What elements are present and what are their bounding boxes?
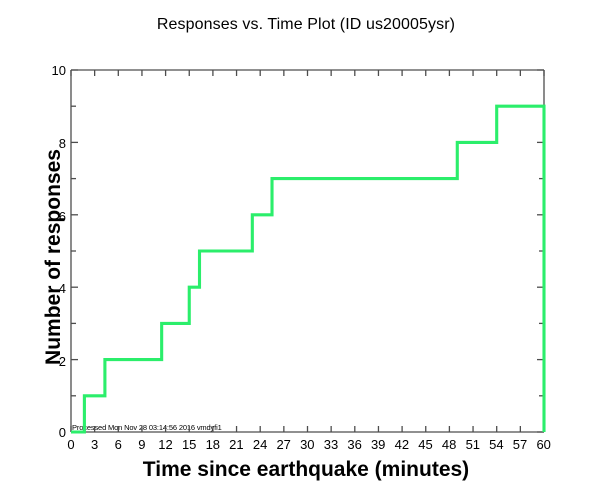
axis-ticks [71, 70, 544, 432]
y-tick-label: 4 [36, 281, 66, 296]
chart-figure: Responses vs. Time Plot (ID us20005ysr) … [0, 0, 612, 504]
y-tick-label: 8 [36, 136, 66, 151]
x-axis-label: Time since earthquake (minutes) [0, 458, 612, 482]
processing-stamp: Processed Mon Nov 28 03:14:56 2016 vmdyf… [72, 423, 222, 432]
y-tick-label: 2 [36, 354, 66, 369]
y-tick-label: 6 [36, 209, 66, 224]
y-tick-label: 10 [36, 63, 66, 78]
chart-title: Responses vs. Time Plot (ID us20005ysr) [0, 16, 612, 34]
x-tick-label: 60 [529, 437, 559, 452]
step-line-series [71, 106, 544, 432]
